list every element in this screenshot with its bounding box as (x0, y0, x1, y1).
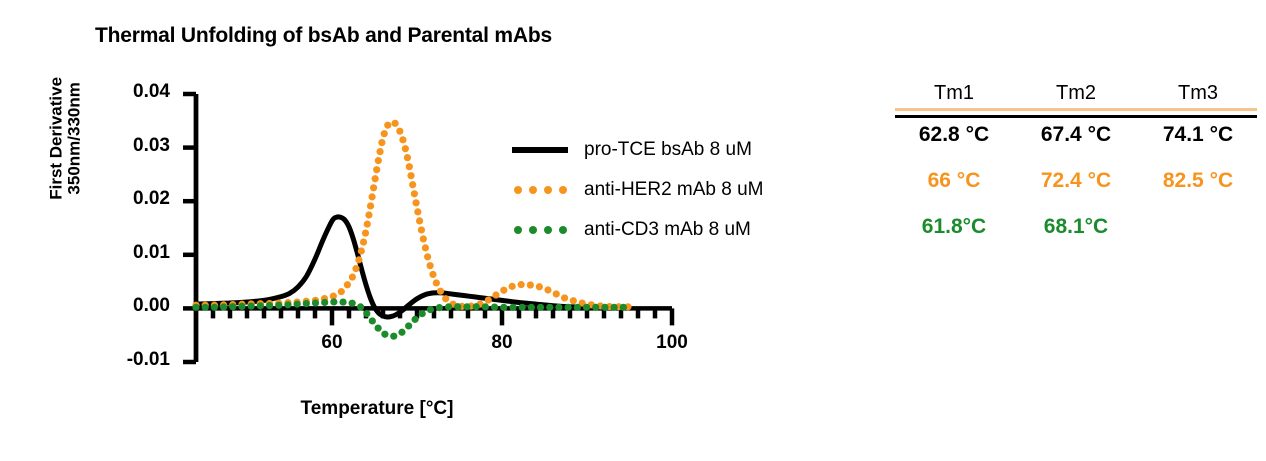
data-dot (238, 303, 245, 310)
legend-dot (529, 226, 537, 234)
data-dot (392, 120, 399, 127)
tm-table-body: 62.8 °C67.4 °C74.1 °C66 °C72.4 °C82.5 °C… (893, 118, 1259, 244)
legend-swatch-2 (512, 220, 568, 240)
data-dot (284, 301, 291, 308)
data-dot (368, 193, 375, 200)
data-dot (583, 304, 590, 311)
data-dot (202, 304, 209, 311)
tm-header-2: Tm3 (1137, 82, 1259, 108)
tm-summary-table: Tm1Tm2Tm3 62.8 °C67.4 °C74.1 °C66 °C72.4… (893, 82, 1259, 244)
data-dot (373, 166, 380, 173)
data-dot (454, 303, 461, 310)
data-dot (357, 303, 364, 310)
data-dot (404, 154, 411, 161)
legend-item-0[interactable]: pro-TCE bsAb 8 uM (512, 130, 764, 170)
legend-dot (529, 186, 537, 194)
data-dot (442, 295, 449, 302)
data-dot (500, 304, 507, 311)
data-dot (294, 301, 301, 308)
data-dot (364, 220, 371, 227)
data-dot (436, 304, 443, 311)
legend-dotted-line-icon (514, 186, 566, 194)
data-dot (365, 211, 372, 218)
data-dot (352, 265, 359, 272)
legend-label-0: pro-TCE bsAb 8 uM (584, 139, 752, 161)
legend-dotted-line-icon (514, 226, 566, 234)
data-dot (620, 304, 627, 311)
legend-dot (514, 226, 522, 234)
data-dot (248, 303, 255, 310)
data-dot (553, 290, 560, 297)
data-dot (229, 303, 236, 310)
tm-cell-r0-c0: 62.8 °C (893, 118, 1015, 152)
data-dot (390, 333, 397, 340)
data-dot (192, 304, 199, 311)
data-dot (429, 271, 436, 278)
data-dot (519, 304, 526, 311)
data-dot (427, 262, 434, 269)
legend-label-1: anti-HER2 mAb 8 uM (584, 179, 764, 201)
data-dot (422, 244, 429, 251)
data-dot (369, 317, 376, 324)
data-dot (544, 286, 551, 293)
data-dot (402, 145, 409, 152)
data-dot (537, 304, 544, 311)
plot-area: First Derivative 350nm/330nm -0.010.000.… (0, 0, 880, 461)
legend-item-2[interactable]: anti-CD3 mAb 8 uM (512, 210, 764, 250)
data-dot (339, 298, 346, 305)
data-dot (509, 283, 516, 290)
data-dot (407, 172, 414, 179)
data-dot (376, 148, 383, 155)
data-dot (414, 208, 421, 215)
tm-table-header-row: Tm1Tm2Tm3 (893, 82, 1259, 108)
data-dot (257, 302, 264, 309)
data-dot (463, 303, 470, 310)
data-dot (411, 316, 418, 323)
data-dot (362, 229, 369, 236)
data-dot (570, 297, 577, 304)
x-axis-label: Temperature [°C] (212, 398, 542, 420)
data-dot (372, 175, 379, 182)
data-dot (370, 184, 377, 191)
data-dot (418, 226, 425, 233)
data-dot (437, 288, 444, 295)
data-dot (398, 329, 405, 336)
data-dot (381, 130, 388, 137)
data-dot (536, 283, 543, 290)
data-dot (491, 304, 498, 311)
data-dot (485, 296, 492, 303)
data-dot (303, 300, 310, 307)
data-dot (358, 247, 365, 254)
tm-cell-r2-c2 (1137, 210, 1259, 244)
tm-header-0: Tm1 (893, 82, 1015, 108)
tm-table-row: 61.8°C68.1°C (893, 210, 1259, 244)
tm-cell-r1-c2: 82.5 °C (1137, 164, 1259, 198)
data-dot (416, 217, 423, 224)
data-dot (473, 303, 480, 310)
data-dot (378, 139, 385, 146)
data-dot (420, 235, 427, 242)
data-dot (611, 304, 618, 311)
data-dot (411, 190, 418, 197)
data-dot (561, 294, 568, 301)
data-dot (399, 136, 406, 143)
data-dot (349, 300, 356, 307)
data-dot (312, 299, 319, 306)
data-dot (546, 304, 553, 311)
data-dot (384, 122, 391, 129)
tm-cell-r0-c2: 74.1 °C (1137, 118, 1259, 152)
legend-dot (559, 226, 567, 234)
data-dot (321, 299, 328, 306)
tm-header-1: Tm2 (1015, 82, 1137, 108)
data-dot (445, 303, 452, 310)
data-dot (275, 302, 282, 309)
tm-cell-r2-c1: 68.1°C (1015, 210, 1137, 244)
data-dot (406, 163, 413, 170)
data-dot (555, 304, 562, 311)
data-dot (349, 273, 356, 280)
data-dot (482, 303, 489, 310)
data-dot (396, 128, 403, 135)
tm-table-rule-top (895, 108, 1257, 111)
data-dot (574, 304, 581, 311)
data-dot (211, 304, 218, 311)
legend-dot (544, 186, 552, 194)
data-dot (424, 253, 431, 260)
data-dot (601, 304, 608, 311)
data-dot (330, 298, 337, 305)
data-dot (266, 302, 273, 309)
data-dot (518, 281, 525, 288)
data-dot (592, 304, 599, 311)
data-dot (509, 304, 516, 311)
legend-dot (514, 186, 522, 194)
data-dot (500, 287, 507, 294)
data-dot (528, 304, 535, 311)
data-dot (344, 281, 351, 288)
data-dot (527, 281, 534, 288)
data-dot (375, 157, 382, 164)
legend: pro-TCE bsAb 8 uManti-HER2 mAb 8 uManti-… (512, 130, 764, 250)
legend-item-1[interactable]: anti-HER2 mAb 8 uM (512, 170, 764, 210)
data-dot (367, 202, 374, 209)
tm-cell-r1-c1: 72.4 °C (1015, 164, 1137, 198)
tm-table-row: 62.8 °C67.4 °C74.1 °C (893, 118, 1259, 152)
data-dot (565, 304, 572, 311)
data-dot (492, 291, 499, 298)
legend-solid-line-icon (512, 147, 568, 153)
data-dot (409, 181, 416, 188)
legend-dot (559, 186, 567, 194)
legend-swatch-1 (512, 180, 568, 200)
data-dot (338, 288, 345, 295)
legend-dot (544, 226, 552, 234)
data-dot (405, 322, 412, 329)
tm-row-spacer (893, 152, 1259, 164)
data-dot (381, 331, 388, 338)
data-dot (375, 325, 382, 332)
data-dot (363, 310, 370, 317)
tm-cell-r1-c0: 66 °C (893, 164, 1015, 198)
data-dot (220, 303, 227, 310)
data-dot (419, 310, 426, 317)
data-dot (427, 306, 434, 313)
tm-table-row: 66 °C72.4 °C82.5 °C (893, 164, 1259, 198)
tm-cell-r2-c0: 61.8°C (893, 210, 1015, 244)
legend-swatch-0 (512, 140, 568, 160)
tm-row-spacer (893, 198, 1259, 210)
data-dot (355, 256, 362, 263)
data-dot (433, 279, 440, 286)
data-dot (412, 199, 419, 206)
tm-cell-r0-c1: 67.4 °C (1015, 118, 1137, 152)
legend-label-2: anti-CD3 mAb 8 uM (584, 219, 751, 241)
data-dot (360, 238, 367, 245)
